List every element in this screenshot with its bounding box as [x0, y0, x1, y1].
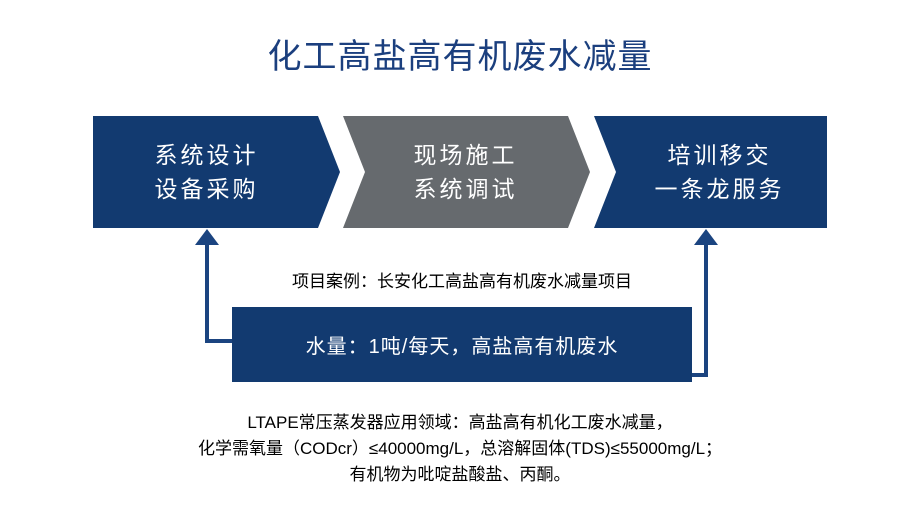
footnote-line-3: 有机物为吡啶盐酸盐、丙酮。: [60, 462, 860, 488]
process-step-construction[interactable]: 现场施工 系统调试: [343, 116, 590, 228]
connector-right-vertical: [704, 243, 708, 377]
process-step-training-line1: 培训移交: [668, 138, 772, 172]
process-step-design[interactable]: 系统设计 设备采购: [93, 116, 340, 228]
process-step-training-line2: 一条龙服务: [655, 172, 785, 206]
process-step-design-line1: 系统设计: [155, 138, 259, 172]
case-caption: 项目案例：长安化工高盐高有机废水减量项目: [232, 270, 692, 294]
footnote-paragraph: LTAPE常压蒸发器应用领域：高盐高有机化工废水减量， 化学需氧量（CODcr）…: [60, 410, 860, 488]
connector-left-horizontal: [205, 339, 235, 343]
page-title: 化工高盐高有机废水减量: [0, 36, 920, 78]
water-volume-label: 水量：1吨/每天，高盐高有机废水: [306, 330, 619, 359]
process-step-construction-line1: 现场施工: [414, 138, 518, 172]
footnote-line-1: LTAPE常压蒸发器应用领域：高盐高有机化工废水减量，: [60, 410, 860, 436]
process-step-construction-line2: 系统调试: [414, 172, 518, 206]
process-step-training[interactable]: 培训移交 一条龙服务: [594, 116, 827, 228]
footnote-line-2: 化学需氧量（CODcr）≤40000mg/L，总溶解固体(TDS)≤55000m…: [60, 436, 860, 462]
water-volume-box[interactable]: 水量：1吨/每天，高盐高有机废水: [232, 307, 692, 382]
slide-canvas: 化工高盐高有机废水减量 系统设计 设备采购 现场施工 系统调试 培训移交 一条龙…: [0, 0, 920, 522]
process-step-design-line2: 设备采购: [155, 172, 259, 206]
connector-left-vertical: [205, 243, 209, 341]
